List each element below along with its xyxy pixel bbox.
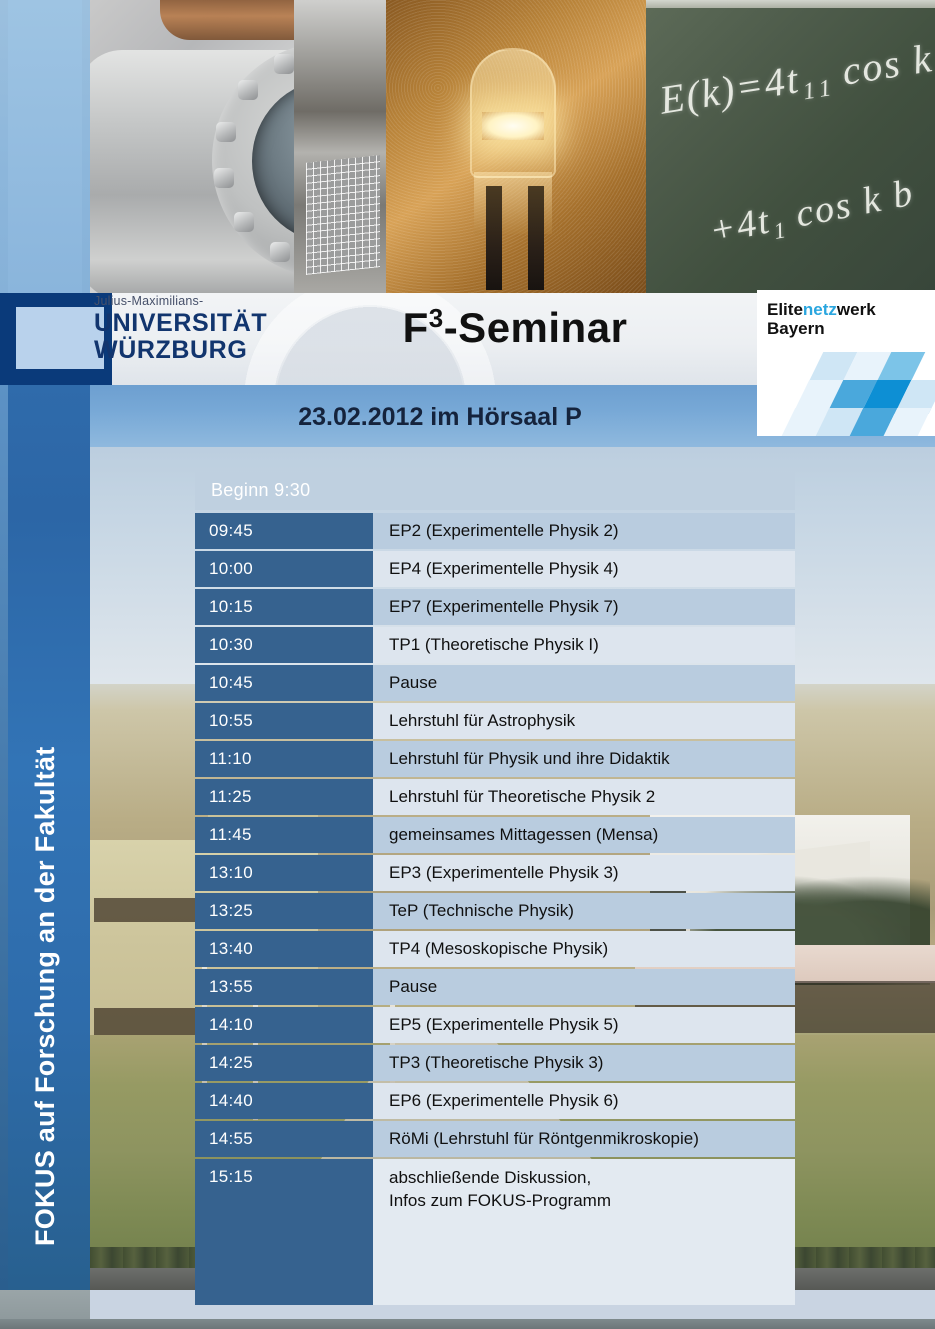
flange-bolt [270,242,290,262]
schedule-row: 13:10EP3 (Experimentelle Physik 3) [195,855,795,891]
enb-part3: werk [837,300,876,319]
chalk-formula-line-2: +4t₁ cos k b [706,171,918,254]
chalk-formula-line-1: E(k)=4t₁₁ cos k G [656,27,935,123]
schedule-time-cell: 11:25 [195,779,373,815]
lamp-pin [528,186,544,290]
schedule-event-cell: Pause [373,969,795,1005]
sidebar-fokus-label: FOKUS auf Forschung an der Fakultät [0,385,90,1290]
schedule-time-cell: 14:55 [195,1121,373,1157]
schedule-row: 11:25Lehrstuhl für Theoretische Physik 2 [195,779,795,815]
sidebar-top-inner [8,0,82,293]
schedule-time-cell: 10:55 [195,703,373,739]
enb-line2: Bayern [767,319,825,338]
schedule-time-cell: 09:45 [195,513,373,549]
university-name-line2: WÜRZBURG [94,337,334,364]
schedule-event-cell: EP7 (Experimentelle Physik 7) [373,589,795,625]
schedule-row: 15:15abschließende Diskussion, Infos zum… [195,1159,795,1305]
schedule-event-cell: gemeinsames Mittagessen (Mensa) [373,817,795,853]
flange-bolt [214,168,234,188]
schedule-event-cell: Lehrstuhl für Physik und ihre Didaktik [373,741,795,777]
title-suffix: -Seminar [444,304,628,351]
enb-part1: Elite [767,300,803,319]
university-pretitle: Julius-Maximilians- [94,295,334,308]
schedule-row: 14:55RöMi (Lehrstuhl für Röntgenmikrosko… [195,1121,795,1157]
schedule-time-cell: 10:15 [195,589,373,625]
schedule-event-cell: EP2 (Experimentelle Physik 2) [373,513,795,549]
schedule-row: 14:40EP6 (Experimentelle Physik 6) [195,1083,795,1119]
schedule-rows-host: 09:45EP2 (Experimentelle Physik 2)10:00E… [195,513,795,1305]
flange-bolt [238,80,258,100]
schedule-event-cell: Pause [373,665,795,701]
schedule-event-cell: EP5 (Experimentelle Physik 5) [373,1007,795,1043]
sidebar-edge-strip [0,385,8,1290]
schedule-row: 11:10Lehrstuhl für Physik und ihre Didak… [195,741,795,777]
title-superscript: 3 [429,303,444,333]
schedule-time-cell: 14:25 [195,1045,373,1081]
logo-inner-chip [16,307,104,369]
schedule-time-cell: 13:40 [195,931,373,967]
elitenetzwerk-bayern-logo: Elitenetzwerk Bayern [757,290,935,436]
header-photo-strip: E(k)=4t₁₁ cos k G +4t₁ cos k b [90,0,935,293]
schedule-time-cell: 13:25 [195,893,373,929]
schedule-event-cell: Lehrstuhl für Theoretische Physik 2 [373,779,795,815]
schedule-time-cell: 13:10 [195,855,373,891]
poster-root: E(k)=4t₁₁ cos k G +4t₁ cos k b FOKUS auf… [0,0,935,1329]
schedule-time-cell: 11:45 [195,817,373,853]
schedule-start-label: Beginn 9:30 [195,472,310,510]
schedule-time-cell: 10:00 [195,551,373,587]
schedule-event-cell: Lehrstuhl für Astrophysik [373,703,795,739]
schedule-row: 13:55Pause [195,969,795,1005]
university-name-line1: UNIVERSITÄT [94,310,334,337]
schedule-event-cell: EP4 (Experimentelle Physik 4) [373,551,795,587]
flange-bolt [274,54,294,74]
blackboard-photo: E(k)=4t₁₁ cos k G +4t₁ cos k b [646,0,935,293]
schedule-event-cell: TeP (Technische Physik) [373,893,795,929]
schedule-row: 14:25TP3 (Theoretische Physik 3) [195,1045,795,1081]
board-top-rail [646,0,935,8]
seminar-schedule-table: Beginn 9:30 09:45EP2 (Experimentelle Phy… [195,472,795,1307]
vacuum-chamber-photo [90,0,386,293]
enb-wordmark: Elitenetzwerk Bayern [767,300,876,338]
schedule-event-cell: TP1 (Theoretische Physik I) [373,627,795,663]
schedule-time-cell: 14:10 [195,1007,373,1043]
schedule-time-cell: 10:45 [195,665,373,701]
schedule-event-cell: EP3 (Experimentelle Physik 3) [373,855,795,891]
schedule-event-cell: abschließende Diskussion, Infos zum FOKU… [373,1159,795,1305]
schedule-time-cell: 10:30 [195,627,373,663]
schedule-row: 13:40TP4 (Mesoskopische Physik) [195,931,795,967]
schedule-row: 10:00EP4 (Experimentelle Physik 4) [195,551,795,587]
schedule-row: 13:25TeP (Technische Physik) [195,893,795,929]
title-base: F [403,304,429,351]
schedule-row: 10:45Pause [195,665,795,701]
schedule-time-cell: 14:40 [195,1083,373,1119]
schedule-event-cell: TP4 (Mesoskopische Physik) [373,931,795,967]
schedule-row: 09:45EP2 (Experimentelle Physik 2) [195,513,795,549]
schedule-row: 11:45gemeinsames Mittagessen (Mensa) [195,817,795,853]
schedule-event-cell: EP6 (Experimentelle Physik 6) [373,1083,795,1119]
schedule-row: 10:15EP7 (Experimentelle Physik 7) [195,589,795,625]
perforated-plate [306,155,380,275]
schedule-time-cell: 11:10 [195,741,373,777]
sidebar-fokus-banner: FOKUS auf Forschung an der Fakultät [0,385,90,1290]
enb-part2: netz [803,300,837,319]
university-wordmark: Julius-Maximilians- UNIVERSITÄT WÜRZBURG [94,295,334,364]
page-title: F3-Seminar [300,303,730,352]
schedule-row: 14:10EP5 (Experimentelle Physik 5) [195,1007,795,1043]
schedule-header-row: Beginn 9:30 [195,472,795,510]
schedule-time-cell: 15:15 [195,1159,373,1305]
schedule-time-cell: 13:55 [195,969,373,1005]
halogen-lamp-photo [386,0,646,293]
flange-bolt [234,212,254,232]
page-bottom-strip [0,1319,935,1329]
schedule-row: 10:30TP1 (Theoretische Physik I) [195,627,795,663]
flange-bolt [216,122,236,142]
event-date-location: 23.02.2012 im Hörsaal P [90,403,790,432]
schedule-event-cell: TP3 (Theoretische Physik 3) [373,1045,795,1081]
schedule-event-cell: RöMi (Lehrstuhl für Röntgenmikroskopie) [373,1121,795,1157]
schedule-row: 10:55Lehrstuhl für Astrophysik [195,703,795,739]
lamp-pin [486,186,502,290]
sidebar-top-block [0,0,90,293]
lamp-filament-glow [482,112,544,140]
